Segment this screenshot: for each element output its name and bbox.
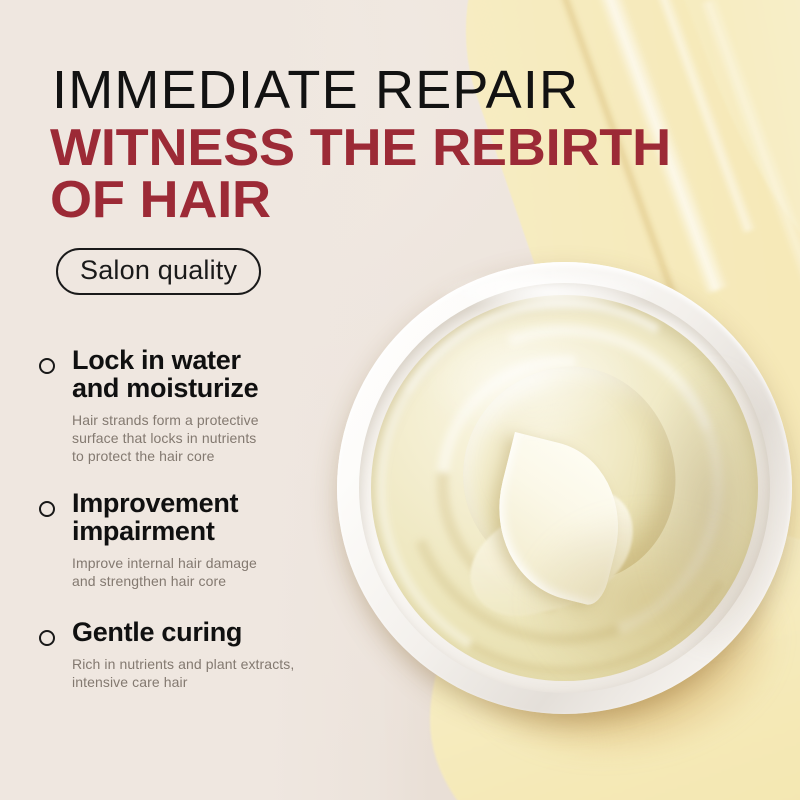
feature-description-line: Improve internal hair damage: [72, 554, 366, 572]
feature-title: Gentle curing: [72, 618, 366, 646]
feature-item: Improvement impairment Improve internal …: [36, 489, 366, 590]
feature-item: Lock in water and moisturize Hair strand…: [36, 346, 366, 465]
bullet-circle-icon: [39, 358, 55, 374]
feature-title-line: and moisturize: [72, 373, 258, 403]
product-jar-image: [337, 262, 792, 714]
feature-description: Hair strands form a protective surface t…: [72, 411, 366, 465]
jar-rim-shadow: [637, 358, 787, 658]
feature-title-line: Improvement: [72, 488, 238, 518]
jar-rim-highlight: [433, 270, 663, 312]
feature-description: Improve internal hair damage and strengt…: [72, 554, 366, 590]
bullet-circle-icon: [39, 630, 55, 646]
cream-highlight: [417, 317, 647, 445]
feature-title-line: Lock in water: [72, 345, 241, 375]
feature-description: Rich in nutrients and plant extracts, in…: [72, 655, 366, 691]
feature-title-line: Gentle curing: [72, 617, 242, 647]
advertisement-canvas: IMMEDIATE REPAIR WITNESS THE REBIRTH OF …: [0, 0, 800, 800]
headline-primary: IMMEDIATE REPAIR: [52, 59, 579, 121]
feature-description-line: Rich in nutrients and plant extracts,: [72, 655, 366, 673]
feature-title: Lock in water and moisturize: [72, 346, 366, 402]
feature-description-line: intensive care hair: [72, 673, 366, 691]
headline-accent-line-2: OF HAIR: [50, 174, 800, 226]
bullet-circle-icon: [39, 501, 55, 517]
feature-item: Gentle curing Rich in nutrients and plan…: [36, 618, 366, 691]
feature-description-line: Hair strands form a protective: [72, 411, 366, 429]
feature-description-line: to protect the hair core: [72, 447, 366, 465]
salon-quality-badge: Salon quality: [56, 248, 261, 295]
feature-description-line: and strengthen hair core: [72, 572, 366, 590]
feature-title: Improvement impairment: [72, 489, 366, 545]
headline-accent: WITNESS THE REBIRTH OF HAIR: [50, 122, 800, 226]
feature-description-line: surface that locks in nutrients: [72, 429, 366, 447]
headline-accent-line-1: WITNESS THE REBIRTH: [50, 122, 800, 174]
feature-title-line: impairment: [72, 516, 215, 546]
feature-list: Lock in water and moisturize Hair strand…: [36, 346, 366, 691]
